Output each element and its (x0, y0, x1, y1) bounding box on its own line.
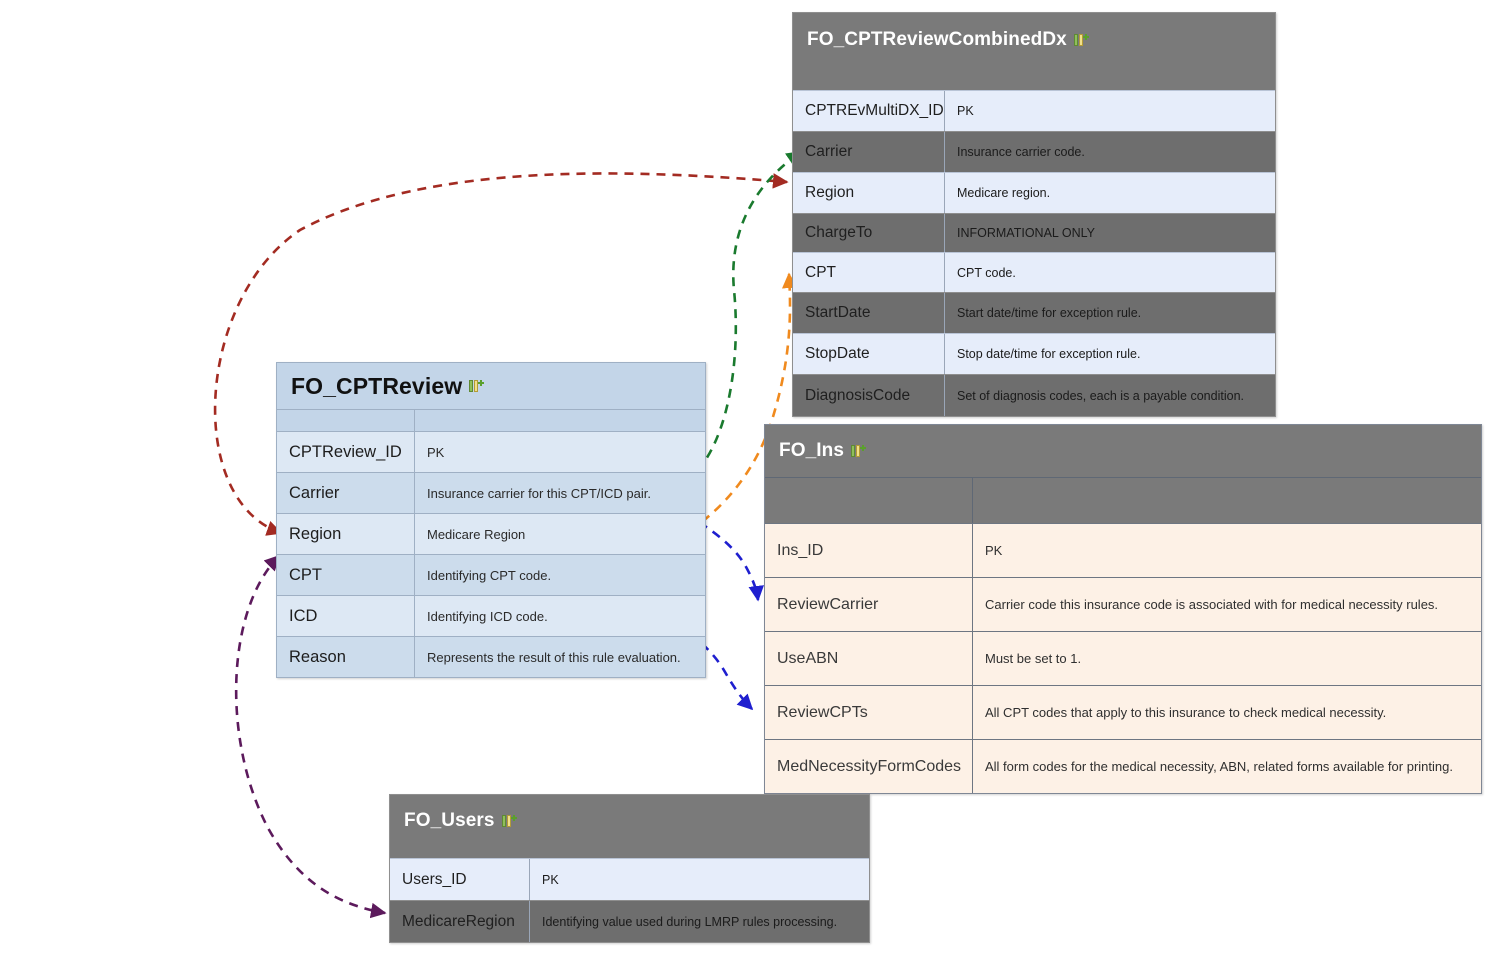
field-description: Identifying value used during LMRP rules… (530, 901, 869, 942)
field-description: PK (945, 91, 1275, 131)
table-row[interactable]: UseABN Must be set to 1. (765, 631, 1481, 685)
entity-title-cptreview: FO_CPTReview (277, 363, 705, 409)
field-description: INFORMATIONAL ONLY (945, 214, 1275, 252)
table-row[interactable]: CPTReview_ID PK (277, 431, 705, 472)
field-name: DiagnosisCode (793, 375, 945, 416)
table-row[interactable]: StopDate Stop date/time for exception ru… (793, 333, 1275, 374)
table-add-icon (1074, 32, 1089, 48)
field-description: Medicare Region (415, 514, 705, 554)
entity-subheader-ins (765, 477, 1481, 523)
entity-fo-cptreview[interactable]: FO_CPTReview CPTReview_ID PK Carrier Ins… (276, 362, 706, 678)
field-name: ReviewCarrier (765, 578, 973, 631)
field-description: Stop date/time for exception rule. (945, 334, 1275, 374)
field-name: CPTReview_ID (277, 432, 415, 472)
field-description: Insurance carrier for this CPT/ICD pair. (415, 473, 705, 513)
table-row[interactable]: CPT CPT code. (793, 252, 1275, 292)
entity-title-ins: FO_Ins (765, 425, 1481, 477)
field-description: Set of diagnosis codes, each is a payabl… (945, 375, 1275, 416)
entity-subheader-cptreview (277, 409, 705, 431)
field-name: Region (277, 514, 415, 554)
field-name: CPT (277, 555, 415, 595)
entity-fo-cptreviewcombineddx[interactable]: FO_CPTReviewCombinedDx CPTREvMultiDX_ID … (792, 12, 1276, 417)
field-description: PK (530, 859, 869, 900)
entity-name-cptreview: FO_CPTReview (291, 373, 462, 400)
field-name: StopDate (793, 334, 945, 374)
field-name: Carrier (793, 132, 945, 172)
table-row[interactable]: Carrier Insurance carrier code. (793, 131, 1275, 172)
field-name: MedicareRegion (390, 901, 530, 942)
field-name: Region (793, 173, 945, 213)
table-add-icon (851, 443, 866, 459)
field-name: ICD (277, 596, 415, 636)
entity-title-users: FO_Users (390, 795, 869, 847)
table-row[interactable]: ChargeTo INFORMATIONAL ONLY (793, 213, 1275, 252)
table-row[interactable]: StartDate Start date/time for exception … (793, 292, 1275, 333)
entity-name-users: FO_Users (404, 810, 495, 832)
field-description: CPT code. (945, 253, 1275, 292)
field-name: Carrier (277, 473, 415, 513)
field-name: Ins_ID (765, 524, 973, 577)
table-add-icon (502, 813, 517, 829)
field-name: CPT (793, 253, 945, 292)
table-row[interactable]: MedNecessityFormCodes All form codes for… (765, 739, 1481, 793)
table-row[interactable]: ReviewCPTs All CPT codes that apply to t… (765, 685, 1481, 739)
field-description: All form codes for the medical necessity… (973, 740, 1481, 793)
table-row[interactable]: ICD Identifying ICD code. (277, 595, 705, 636)
field-description: Medicare region. (945, 173, 1275, 213)
table-row[interactable]: CPT Identifying CPT code. (277, 554, 705, 595)
table-row[interactable]: Region Medicare Region (277, 513, 705, 554)
field-description: Carrier code this insurance code is asso… (973, 578, 1481, 631)
field-name: StartDate (793, 293, 945, 333)
field-name: UseABN (765, 632, 973, 685)
table-row[interactable]: Ins_ID PK (765, 523, 1481, 577)
table-row[interactable]: MedicareRegion Identifying value used du… (390, 900, 869, 942)
entity-name-ins: FO_Ins (779, 440, 844, 462)
entity-name-combineddx: FO_CPTReviewCombinedDx (807, 29, 1067, 51)
field-description: Must be set to 1. (973, 632, 1481, 685)
entity-fo-ins[interactable]: FO_Ins Ins_ID PK ReviewCarrier Carrier c… (764, 424, 1482, 794)
field-name: Reason (277, 637, 415, 677)
field-description: Represents the result of this rule evalu… (415, 637, 705, 677)
erd-canvas: FO_CPTReviewCombinedDx CPTREvMultiDX_ID … (0, 0, 1497, 953)
table-row[interactable]: CPTREvMultiDX_ID PK (793, 90, 1275, 131)
field-description: Insurance carrier code. (945, 132, 1275, 172)
table-row[interactable]: Users_ID PK (390, 858, 869, 900)
field-description: All CPT codes that apply to this insuran… (973, 686, 1481, 739)
field-name: ChargeTo (793, 214, 945, 252)
field-description: Identifying CPT code. (415, 555, 705, 595)
table-row[interactable]: Reason Represents the result of this rul… (277, 636, 705, 677)
entity-title-combineddx: FO_CPTReviewCombinedDx (793, 13, 1275, 66)
table-row[interactable]: ReviewCarrier Carrier code this insuranc… (765, 577, 1481, 631)
field-name: Users_ID (390, 859, 530, 900)
field-name: MedNecessityFormCodes (765, 740, 973, 793)
field-name: CPTREvMultiDX_ID (793, 91, 945, 131)
table-row[interactable]: Region Medicare region. (793, 172, 1275, 213)
entity-subheader-combineddx (793, 66, 1275, 90)
field-description: PK (415, 432, 705, 472)
table-row[interactable]: Carrier Insurance carrier for this CPT/I… (277, 472, 705, 513)
field-description: Start date/time for exception rule. (945, 293, 1275, 333)
entity-subheader-users (390, 847, 869, 858)
entity-fo-users[interactable]: FO_Users Users_ID PK MedicareRegion Iden… (389, 794, 870, 943)
table-add-icon (469, 378, 484, 394)
field-name: ReviewCPTs (765, 686, 973, 739)
field-description: Identifying ICD code. (415, 596, 705, 636)
table-row[interactable]: DiagnosisCode Set of diagnosis codes, ea… (793, 374, 1275, 416)
field-description: PK (973, 524, 1481, 577)
